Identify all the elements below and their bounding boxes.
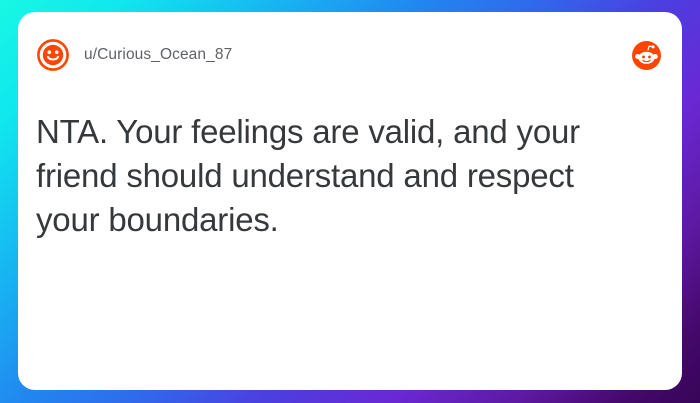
comment-text: NTA. Your feelings are valid, and your f… <box>36 110 642 242</box>
screenshot-root: u/Curious_Ocean_87 <box>0 0 700 403</box>
reddit-comment-card: u/Curious_Ocean_87 <box>18 12 682 390</box>
comment-header: u/Curious_Ocean_87 <box>18 12 682 98</box>
smiley-avatar-icon <box>36 38 70 72</box>
reddit-brand-logo[interactable] <box>632 41 661 70</box>
username-label: u/Curious_Ocean_87 <box>84 46 232 64</box>
avatar[interactable] <box>36 38 70 72</box>
reddit-snoo-icon <box>632 41 661 70</box>
